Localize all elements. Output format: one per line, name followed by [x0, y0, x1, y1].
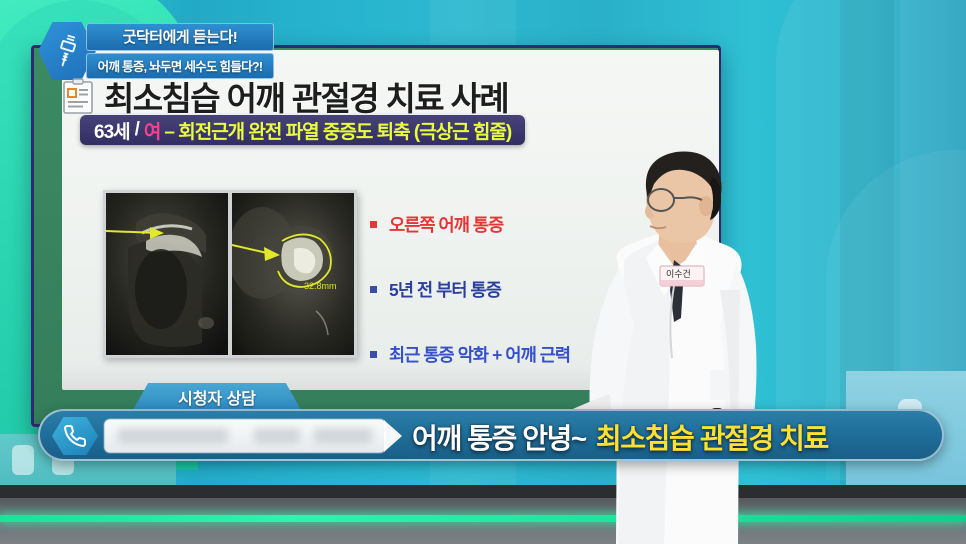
patient-info-bar: 63세 / 여 – 회전근개 완전 파열 중증도 퇴축 (극상근 힘줄) [80, 115, 525, 145]
floor-led-strip [0, 515, 966, 522]
viewer-consult-label: 시청자 상담 [178, 385, 256, 409]
patient-separator: / [130, 119, 144, 141]
patient-diagnosis: – 회전근개 완전 파열 중증도 퇴축 (극상근 힘줄) [160, 117, 511, 144]
mri-image-coronal [106, 193, 228, 355]
program-title-line1: 굿닥터에게 듣는다! [86, 23, 274, 51]
mri-image-axial: 32.8mm [232, 193, 354, 355]
chevron-right-icon [384, 420, 402, 452]
broadcast-screenshot: 굿닥터에게 듣는다! 어깨 통증, 놔두면 세수도 힘들다?! 최소침습 어깨 … [0, 0, 966, 544]
bullet-text: 오른쪽 어깨 통증 [389, 212, 503, 237]
caller-headline: 어깨 통증 안녕~ 최소침습 관절경 치료 [412, 419, 828, 455]
caller-headline-white: 어깨 통증 안녕~ [412, 417, 586, 457]
bullet-text: 5년 전 부터 통증 [389, 277, 501, 302]
patient-sex: 여 [144, 117, 160, 144]
bullet-marker [370, 221, 377, 228]
presenter-doctor: 이수건 [560, 140, 790, 544]
phone-icon [52, 417, 98, 455]
bullet-marker [370, 351, 377, 358]
viewer-consult-tab: 시청자 상담 [133, 383, 301, 410]
page-title: 최소침습 어깨 관절경 치료 사례 [104, 72, 508, 120]
patient-age: 63세 [94, 117, 130, 144]
mri-image-pair: 32.8mm [103, 190, 357, 358]
floor-dark-band [0, 485, 966, 498]
clipboard-icon [63, 78, 93, 114]
program-title-tag: 굿닥터에게 듣는다! 어깨 통증, 놔두면 세수도 힘들다?! [86, 23, 274, 79]
svg-text:32.8mm: 32.8mm [304, 281, 337, 291]
svg-text:이수건: 이수건 [666, 269, 691, 279]
bullet-text: 최근 통증 악화 + 어깨 근력 [389, 342, 570, 367]
caller-phone-number-field [104, 419, 386, 453]
caller-headline-yellow: 최소침습 관절경 치료 [596, 417, 828, 457]
caller-banner: 어깨 통증 안녕~ 최소침습 관절경 치료 [38, 409, 944, 461]
bullet-marker [370, 286, 377, 293]
